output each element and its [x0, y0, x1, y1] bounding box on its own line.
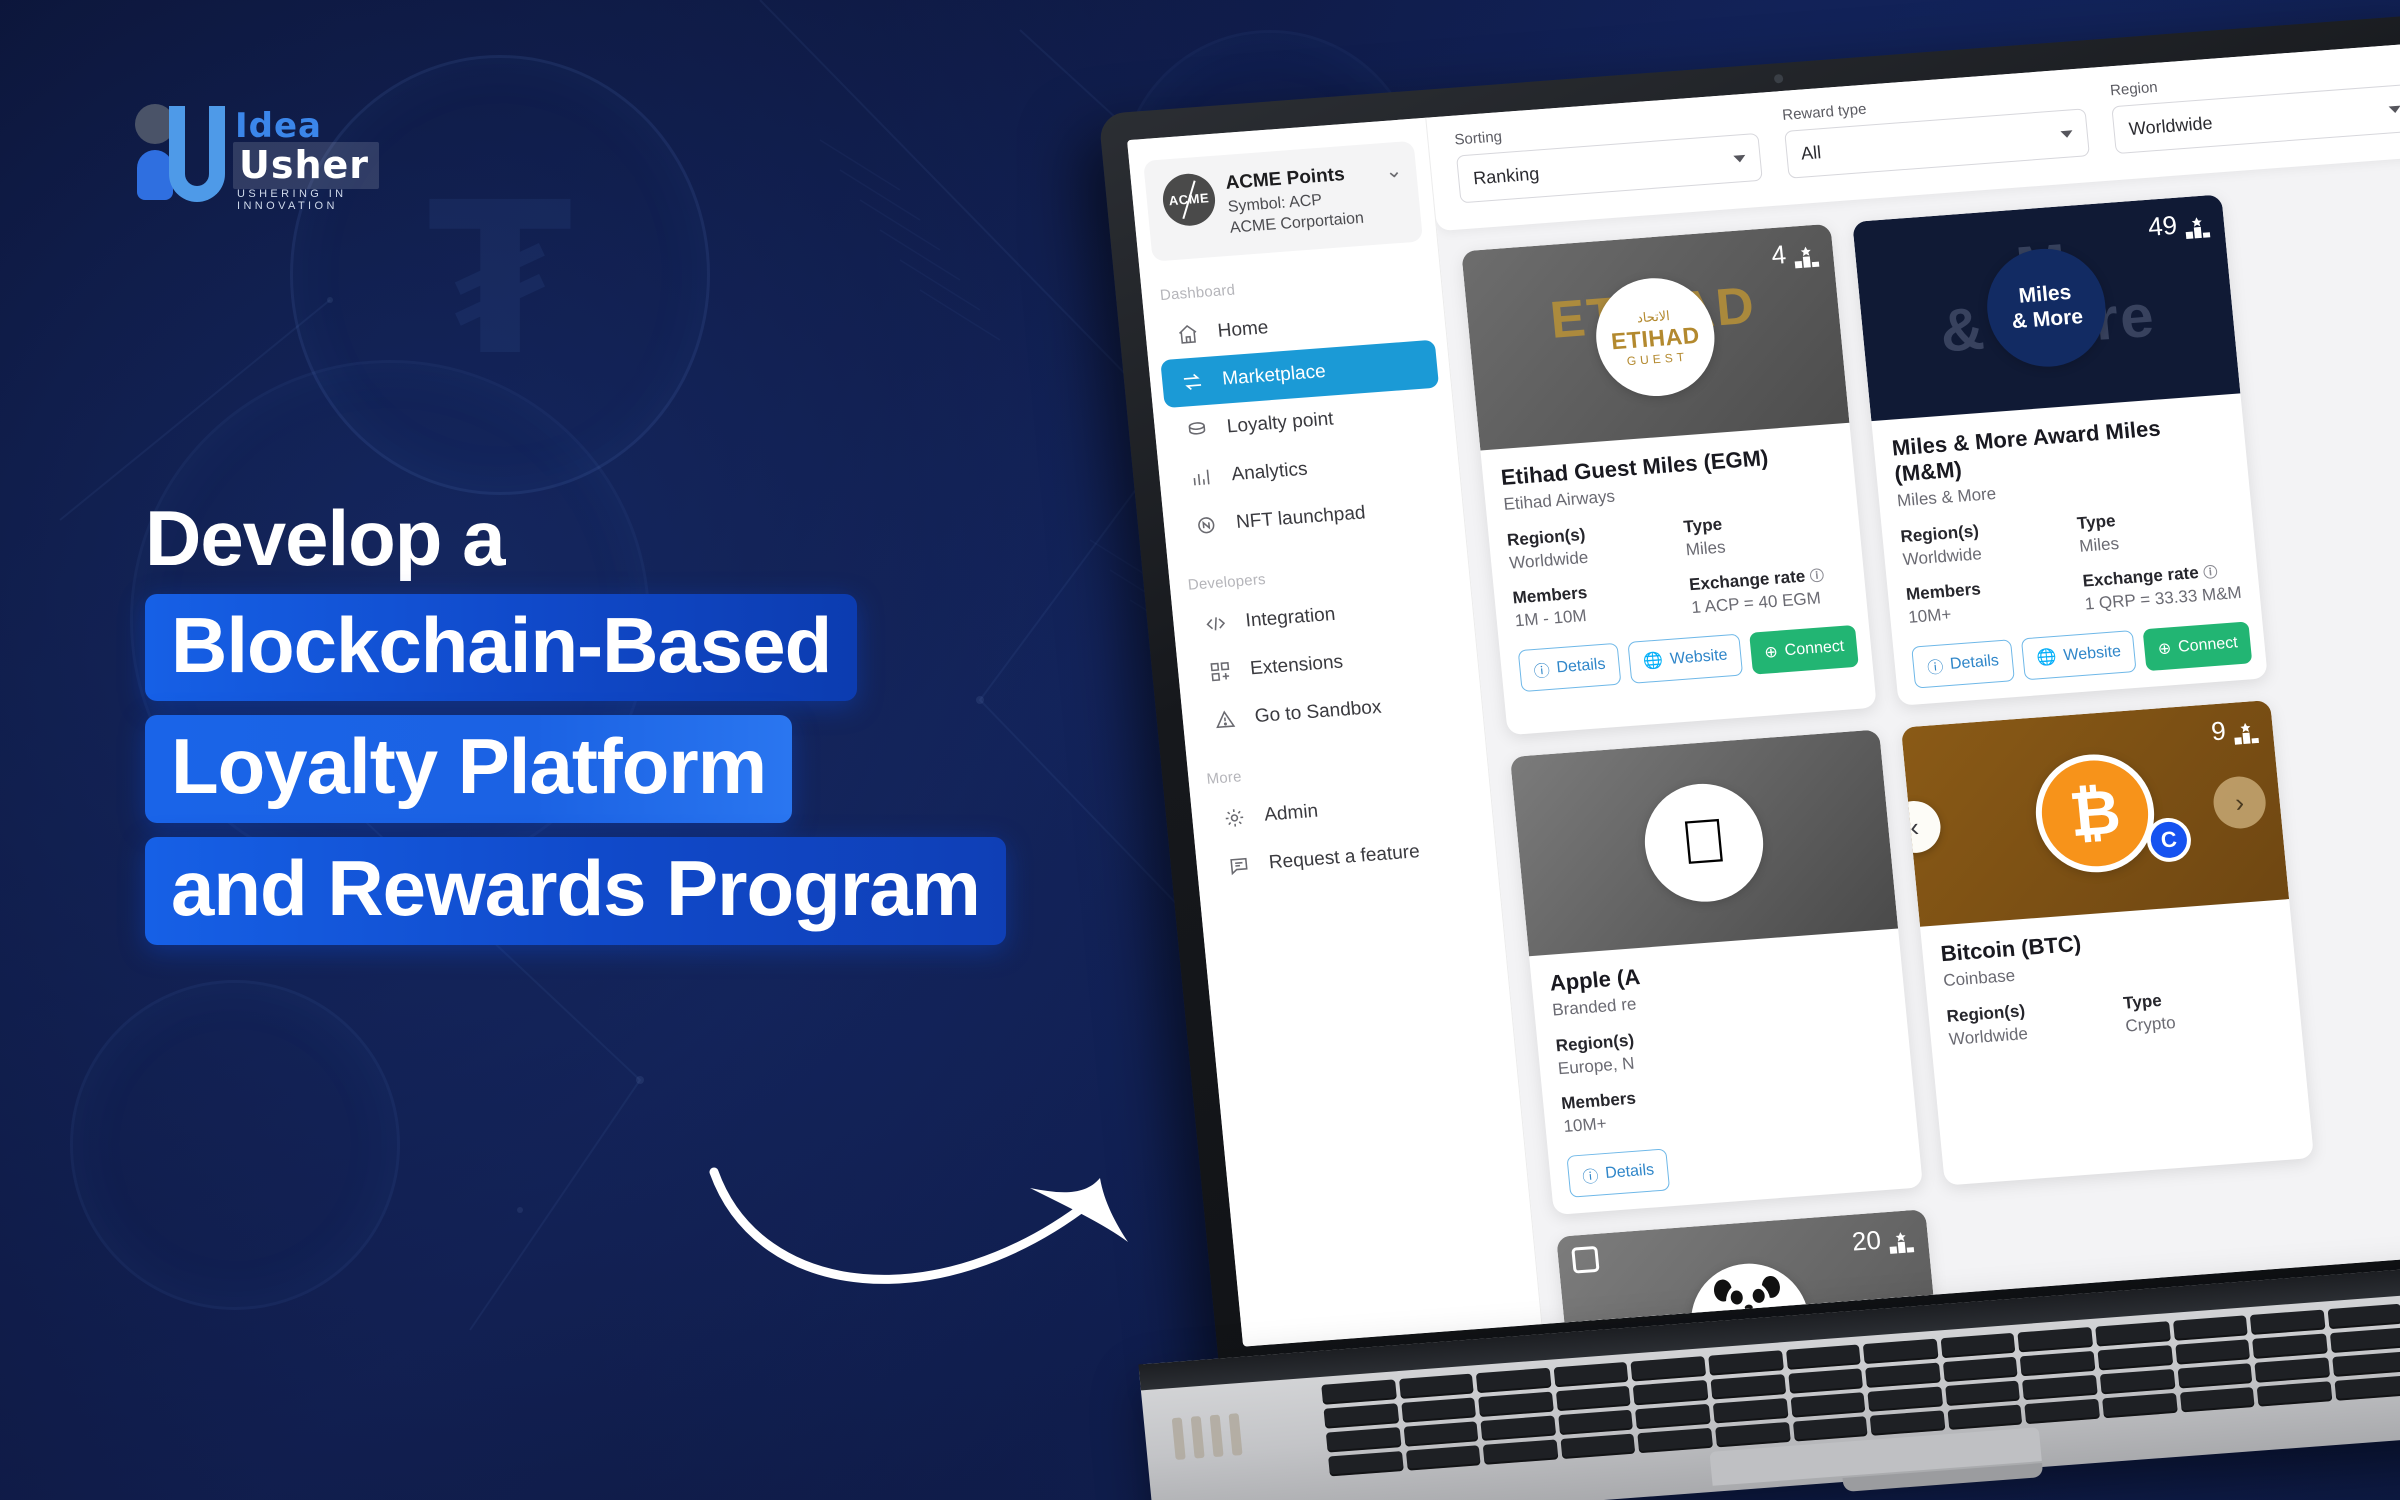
info-icon: ⓘ: [1581, 1163, 1599, 1188]
headline-text-3: Loyalty Platform: [145, 715, 792, 823]
filter-sorting: Sorting Ranking: [1454, 109, 1763, 203]
rank-value: 4: [1770, 239, 1787, 271]
help-circle-icon[interactable]: ⓘ: [1809, 567, 1824, 584]
sidebar-item-label: Extensions: [1249, 651, 1344, 680]
sidebar-item-label: Loyalty point: [1226, 409, 1335, 439]
reward-card-bitcoin[interactable]: 9 ₿ C: [1901, 700, 2314, 1186]
info-icon: ⓘ: [1926, 653, 1944, 678]
sidebar-item-label: Home: [1217, 317, 1270, 343]
reward-card-grid: ETIHAD 4 الات: [1437, 155, 2400, 1324]
bar-chart-icon: [1189, 466, 1215, 490]
feedback-icon: [1226, 854, 1252, 878]
filter-reward-type: Reward type All: [1782, 84, 2091, 178]
chevron-down-icon: [2061, 130, 2074, 138]
apple-icon: : [1678, 810, 1730, 875]
headline-text-4: and Rewards Program: [145, 837, 1006, 945]
details-button[interactable]: ⓘ Details: [1911, 639, 2015, 688]
connect-label: Connect: [2177, 634, 2238, 656]
brand-logo-bubble: ₿: [2030, 750, 2159, 876]
sidebar-item-label: Marketplace: [1221, 361, 1326, 391]
details-label: Details: [1604, 1161, 1655, 1183]
details-button[interactable]: ⓘ Details: [1566, 1148, 1670, 1197]
ranking-icon: [2183, 216, 2211, 240]
rank-badge: 4: [1770, 237, 1820, 271]
reward-card-etihad[interactable]: ETIHAD 4 الات: [1461, 224, 1877, 736]
rank-value: 49: [2147, 210, 2179, 243]
nft-badge-icon: [1193, 513, 1219, 537]
rank-value: 9: [2210, 715, 2227, 747]
swap-arrows-icon: [1179, 370, 1205, 394]
ranking-icon: [1792, 246, 1820, 270]
warning-triangle-icon: [1212, 708, 1238, 732]
laptop-mockup: AC ME ACME Points Symbol: ACP ACME Corpo…: [1059, 12, 2400, 1500]
help-circle-icon[interactable]: ⓘ: [2203, 564, 2218, 581]
info-icon: ⓘ: [1533, 657, 1551, 682]
details-button[interactable]: ⓘ Details: [1518, 643, 1622, 692]
mm-logo-line2: & More: [2011, 305, 2084, 335]
sidebar-item-label: NFT launchpad: [1235, 502, 1366, 534]
website-label: Website: [1669, 647, 1728, 669]
logo-usher-text: Usher: [239, 143, 369, 187]
workspace-switcher[interactable]: AC ME ACME Points Symbol: ACP ACME Corpo…: [1143, 141, 1423, 262]
rank-badge: 9: [2210, 713, 2260, 747]
avatar: AC ME: [1161, 172, 1218, 228]
app-screen: AC ME ACME Points Symbol: ACP ACME Corpo…: [1127, 42, 2400, 1347]
region-value: Worldwide: [2128, 112, 2213, 139]
laptop-lid: AC ME ACME Points Symbol: ACP ACME Corpo…: [1098, 12, 2400, 1378]
connect-label: Connect: [1784, 638, 1845, 660]
plug-icon: ⊕: [2157, 638, 2172, 659]
curved-arrow-icon: [700, 1150, 1200, 1400]
brand-logo-bubble: : [1640, 780, 1769, 906]
logo-tagline: USHERING IN INNOVATION: [237, 188, 375, 212]
connect-button[interactable]: ⊕ Connect: [1749, 625, 1859, 675]
carousel-next-button[interactable]: ›: [2211, 775, 2268, 831]
filter-region: Region Worldwide: [2109, 60, 2400, 154]
gear-icon: [1221, 806, 1247, 830]
reward-card-miles-and-more[interactable]: M& More 49 Mi: [1852, 194, 2268, 706]
card-body: Bitcoin (BTC) Coinbase Region(s) Worldwi…: [1920, 899, 2304, 1082]
headline-text-1: Develop a: [145, 494, 504, 582]
webcam-icon: [1774, 74, 1784, 84]
rank-value: 20: [1851, 1225, 1883, 1258]
sidebar-item-label: Admin: [1263, 801, 1319, 827]
sidebar-item-label: Integration: [1245, 604, 1337, 633]
globe-icon: 🌐: [1642, 650, 1664, 671]
chevron-down-icon: [2389, 106, 2400, 114]
card-banner: 9 ₿ C: [1901, 700, 2289, 927]
select-square-icon[interactable]: [1571, 1246, 1599, 1274]
sidebar-item-label: Go to Sandbox: [1254, 697, 1383, 728]
logo-usher-box: Usher: [233, 142, 379, 189]
website-button[interactable]: 🌐 Website: [2021, 630, 2137, 680]
reward-card-apple[interactable]:  Apple (A Branded re Region(s) Europe, …: [1510, 729, 1923, 1215]
ranking-icon: [1887, 1231, 1915, 1255]
card-body: Etihad Guest Miles (EGM) Etihad Airways …: [1480, 423, 1874, 710]
idea-usher-mark-icon: [125, 104, 225, 196]
connect-button[interactable]: ⊕ Connect: [2143, 621, 2253, 671]
reward-type-value: All: [1800, 142, 1822, 164]
details-label: Details: [1556, 656, 1607, 678]
coinbase-icon: C: [2145, 816, 2193, 863]
card-banner: 20: [1556, 1209, 1944, 1324]
logo-idea-text: Idea: [235, 106, 322, 146]
grid-plus-icon: [1207, 660, 1233, 684]
card-banner: ETIHAD 4 الات: [1461, 224, 1849, 451]
website-button[interactable]: 🌐 Website: [1627, 634, 1743, 684]
carousel-prev-button[interactable]: ‹: [1901, 799, 1943, 855]
ranking-icon: [2232, 722, 2260, 746]
home-icon: [1175, 322, 1201, 346]
coins-icon: [1184, 418, 1210, 442]
details-label: Details: [1949, 652, 2000, 674]
bitcoin-icon: ₿: [2066, 776, 2123, 850]
sidebar-item-label: Analytics: [1231, 459, 1309, 487]
laptop-vents: [1172, 1413, 1243, 1460]
website-label: Website: [2063, 643, 2122, 665]
sidebar-item-label: Request a feature: [1268, 841, 1421, 874]
marketplace-main: Sorting Ranking Reward type All: [1426, 42, 2400, 1324]
globe-icon: 🌐: [2036, 647, 2058, 668]
rank-badge: 20: [1851, 1222, 1916, 1258]
rank-badge: 49: [2147, 207, 2212, 243]
headline-text-2: Blockchain-Based: [145, 594, 857, 702]
card-banner: M& More 49 Mi: [1852, 194, 2240, 421]
brand-logo: Idea Usher USHERING IN INNOVATION: [125, 98, 375, 198]
chevron-down-icon[interactable]: ⌄: [1384, 158, 1403, 184]
sorting-value: Ranking: [1472, 163, 1540, 189]
card-body: Miles & More Award Miles (M&M) Miles & M…: [1871, 393, 2267, 705]
card-body: Apple (A Branded re Region(s) Europe, N …: [1529, 928, 1923, 1215]
chevron-down-icon: [1733, 155, 1746, 163]
card-banner: : [1510, 729, 1898, 956]
plug-icon: ⊕: [1763, 642, 1778, 663]
code-icon: [1203, 612, 1229, 636]
